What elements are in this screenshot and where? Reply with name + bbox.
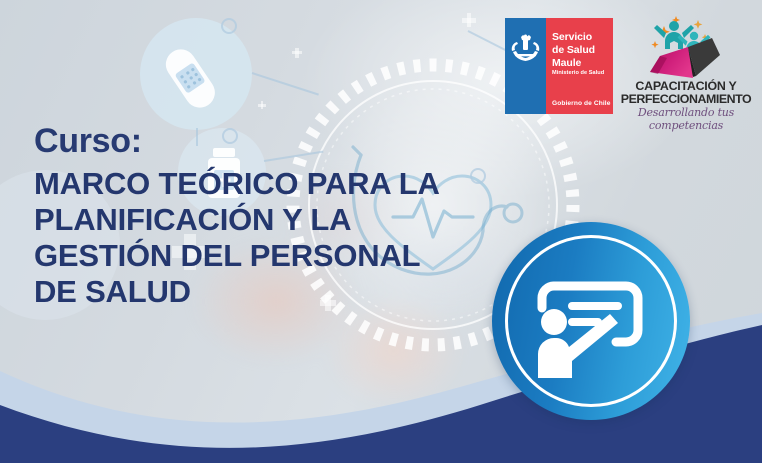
chile-coat-of-arms-icon	[509, 34, 542, 64]
presenter-whiteboard-icon	[532, 266, 652, 378]
course-banner: Curso: MARCO TEÓRICO PARA LA PLANIFICACI…	[0, 0, 762, 463]
ministry-line-2: de Salud	[552, 44, 595, 57]
ministry-logo-name: Servicio de Salud Maule	[552, 31, 595, 69]
course-badge	[492, 222, 690, 420]
ministry-logo-blue-panel	[505, 18, 546, 114]
course-title-line-1: MARCO TEÓRICO PARA LA	[34, 166, 484, 202]
government-line: Gobierno de Chile	[552, 100, 610, 107]
program-logo: CAPACITACIÓN Y PERFECCIONAMIENTO Desarro…	[620, 14, 752, 122]
medical-cross-icon	[292, 51, 302, 54]
course-text-block: Curso: MARCO TEÓRICO PARA LA PLANIFICACI…	[34, 124, 484, 310]
medical-cross-icon	[462, 18, 476, 23]
course-title-line-2: PLANIFICACIÓN Y LA	[34, 202, 484, 238]
ministry-line-3: Maule	[552, 57, 595, 70]
medical-cross-icon	[258, 104, 266, 107]
open-book-with-people-icon	[636, 14, 740, 80]
course-title: MARCO TEÓRICO PARA LA PLANIFICACIÓN Y LA…	[34, 166, 484, 310]
ministry-line-1: Servicio	[552, 31, 595, 44]
ministry-logo-red-panel: Servicio de Salud Maule Ministerio de Sa…	[546, 18, 613, 114]
bandage-icon	[162, 36, 232, 112]
curso-label: Curso:	[34, 124, 484, 158]
ministry-logo: Servicio de Salud Maule Ministerio de Sa…	[505, 18, 613, 114]
course-title-line-4: DE SALUD	[34, 274, 484, 310]
course-title-line-3: GESTIÓN DEL PERSONAL	[34, 238, 484, 274]
ministry-subline: Ministerio de Salud	[552, 70, 604, 76]
program-logo-tagline: Desarrollando tus competencias	[620, 106, 752, 132]
program-logo-line-2: PERFECCIONAMIENTO	[620, 93, 752, 106]
node-ring	[221, 18, 237, 34]
bandage-bubble	[140, 18, 252, 130]
